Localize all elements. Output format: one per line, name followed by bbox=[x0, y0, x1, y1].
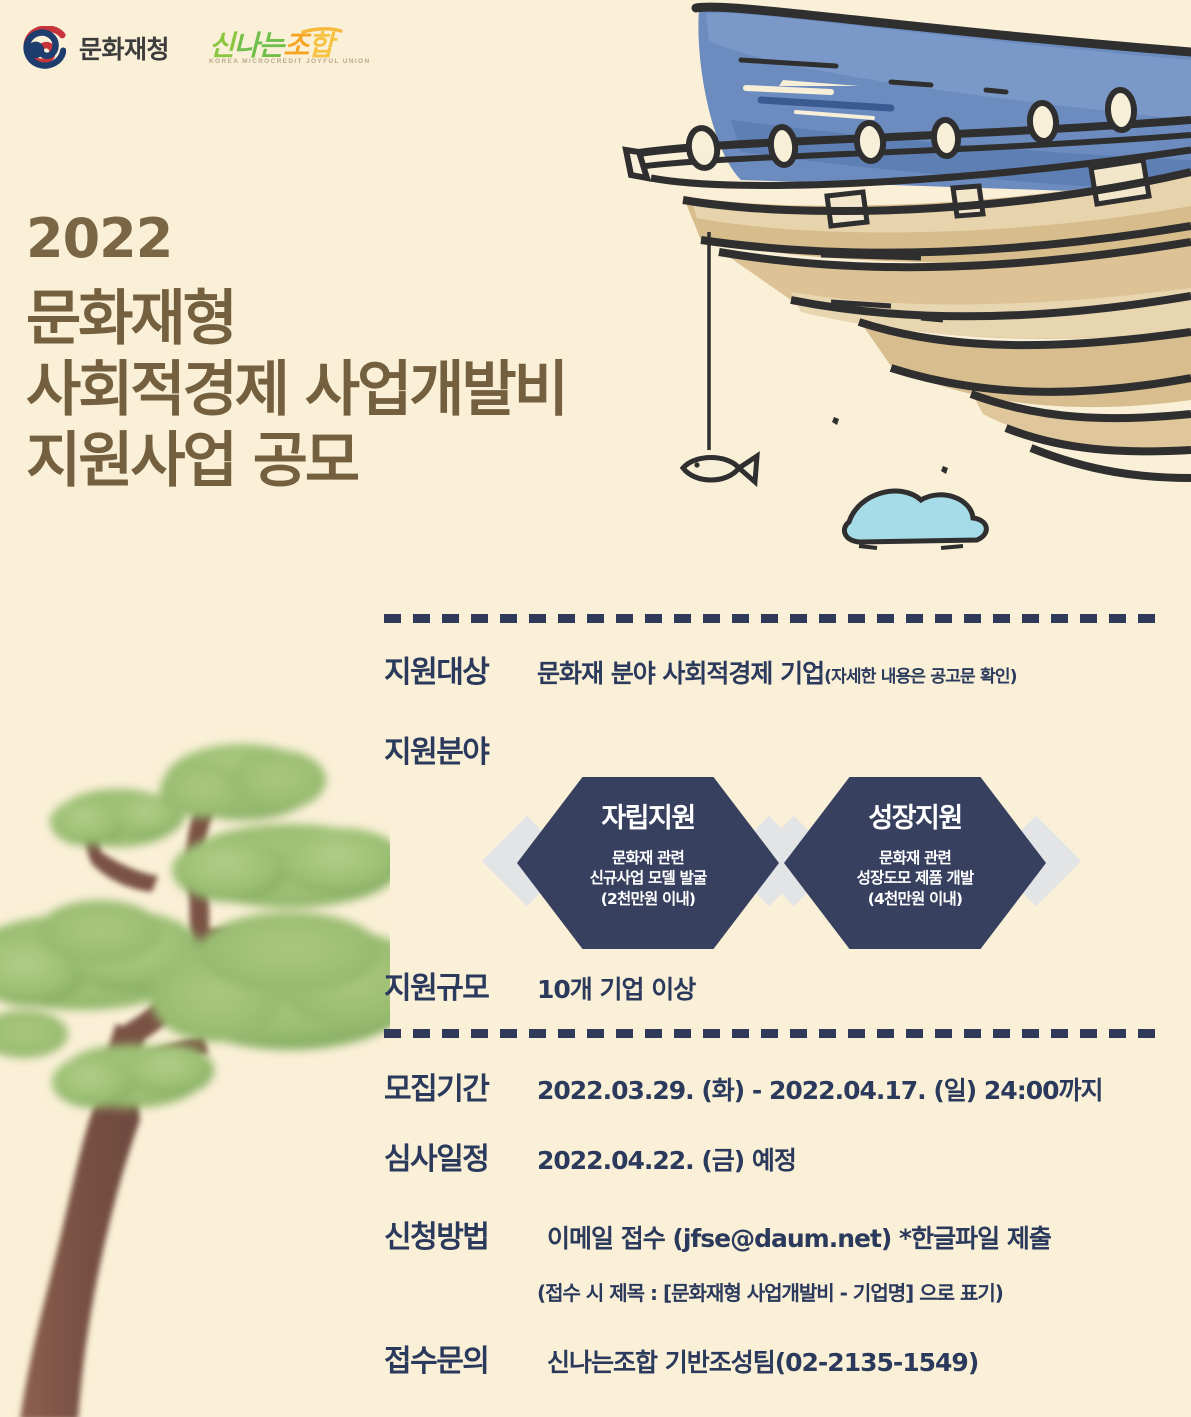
badge-description: 문화재 관련 신규사업 모델 발굴 (2천만원 이내) bbox=[590, 848, 707, 909]
value-apply-note: (접수 시 제목 : [문화재형 사업개발비 - 기업명] 으로 표기) bbox=[537, 1277, 1051, 1306]
value-target-main: 문화재 분야 사회적경제 기업 bbox=[537, 659, 824, 688]
title-block: 2022 문화재형 사회적경제 사업개발비 지원사업 공모 bbox=[26, 212, 566, 496]
blue-cloud bbox=[844, 491, 986, 548]
value-apply-group: 이메일 접수 (jfse@daum.net) *한글파일 제출 (접수 시 제목… bbox=[537, 1219, 1051, 1306]
government-logo: 문화재청 bbox=[22, 26, 169, 70]
logo-bar: 문화재청 신나는조합 KOREA MICROCREDIT JOYFUL UNIO… bbox=[22, 22, 345, 74]
badge-title: 성장지원 bbox=[868, 805, 961, 832]
joyful-union-logo: 신나는조합 KOREA MICROCREDIT JOYFUL UNION bbox=[205, 22, 345, 74]
label-contact: 접수문의 bbox=[384, 1336, 537, 1380]
value-scale: 10개 기업 이상 bbox=[537, 970, 695, 1006]
government-name: 문화재청 bbox=[79, 30, 169, 66]
row-period: 모집기간 2022.03.29. (화) - 2022.04.17. (일) 2… bbox=[384, 1064, 1159, 1108]
badge-independence: 자립지원 문화재 관련 신규사업 모델 발굴 (2천만원 이내) bbox=[517, 777, 779, 949]
badge-hexagon: 자립지원 문화재 관련 신규사업 모델 발굴 (2천만원 이내) bbox=[517, 777, 779, 949]
row-target: 지원대상 문화재 분야 사회적경제 기업(자세한 내용은 공고문 확인) bbox=[384, 647, 1159, 691]
value-apply: 이메일 접수 (jfse@daum.net) *한글파일 제출 bbox=[537, 1219, 1051, 1255]
label-scale: 지원규모 bbox=[384, 963, 537, 1007]
support-field-badges: 자립지원 문화재 관련 신규사업 모델 발굴 (2천만원 이내) 성장지원 문화… bbox=[384, 777, 1159, 957]
hanok-roof-illustration bbox=[591, 0, 1191, 560]
joyful-union-subtitle: KOREA MICROCREDIT JOYFUL UNION bbox=[209, 58, 370, 65]
divider-middle bbox=[384, 1029, 1159, 1038]
pine-tree-illustration bbox=[0, 690, 390, 1417]
value-review: 2022.04.22. (금) 예정 bbox=[537, 1141, 796, 1177]
value-target-note: (자세한 내용은 공고문 확인) bbox=[824, 667, 1017, 687]
label-period: 모집기간 bbox=[384, 1064, 537, 1108]
row-review: 심사일정 2022.04.22. (금) 예정 bbox=[384, 1134, 1159, 1178]
divider-top bbox=[384, 614, 1159, 623]
label-apply: 신청방법 bbox=[384, 1212, 537, 1256]
row-scale: 지원규모 10개 기업 이상 bbox=[384, 963, 1159, 1007]
label-field: 지원분야 bbox=[384, 727, 537, 771]
badge-growth: 성장지원 문화재 관련 성장도모 제품 개발 (4천만원 이내) bbox=[784, 777, 1046, 949]
taegeuk-emblem-icon bbox=[22, 26, 66, 70]
row-apply: 신청방법 이메일 접수 (jfse@daum.net) *한글파일 제출 (접수… bbox=[384, 1212, 1159, 1306]
info-section: 지원대상 문화재 분야 사회적경제 기업(자세한 내용은 공고문 확인) 지원분… bbox=[384, 614, 1159, 1380]
fish-windchime bbox=[683, 456, 757, 482]
value-period: 2022.03.29. (화) - 2022.04.17. (일) 24:00까… bbox=[537, 1071, 1102, 1107]
label-review: 심사일정 bbox=[384, 1134, 537, 1178]
poster-title: 문화재형 사회적경제 사업개발비 지원사업 공모 bbox=[26, 284, 566, 496]
label-target: 지원대상 bbox=[384, 647, 537, 691]
badge-description: 문화재 관련 성장도모 제품 개발 (4천만원 이내) bbox=[857, 848, 974, 909]
poster-year: 2022 bbox=[26, 212, 566, 266]
value-contact: 신나는조합 기반조성팀(02-2135-1549) bbox=[537, 1343, 978, 1379]
badge-title: 자립지원 bbox=[601, 805, 694, 832]
badge-hexagon: 성장지원 문화재 관련 성장도모 제품 개발 (4천만원 이내) bbox=[784, 777, 1046, 949]
poster-canvas: 문화재청 신나는조합 KOREA MICROCREDIT JOYFUL UNIO… bbox=[0, 0, 1191, 1417]
row-field: 지원분야 bbox=[384, 727, 1159, 771]
value-target: 문화재 분야 사회적경제 기업(자세한 내용은 공고문 확인) bbox=[537, 654, 1017, 690]
row-contact: 접수문의 신나는조합 기반조성팀(02-2135-1549) bbox=[384, 1336, 1159, 1380]
